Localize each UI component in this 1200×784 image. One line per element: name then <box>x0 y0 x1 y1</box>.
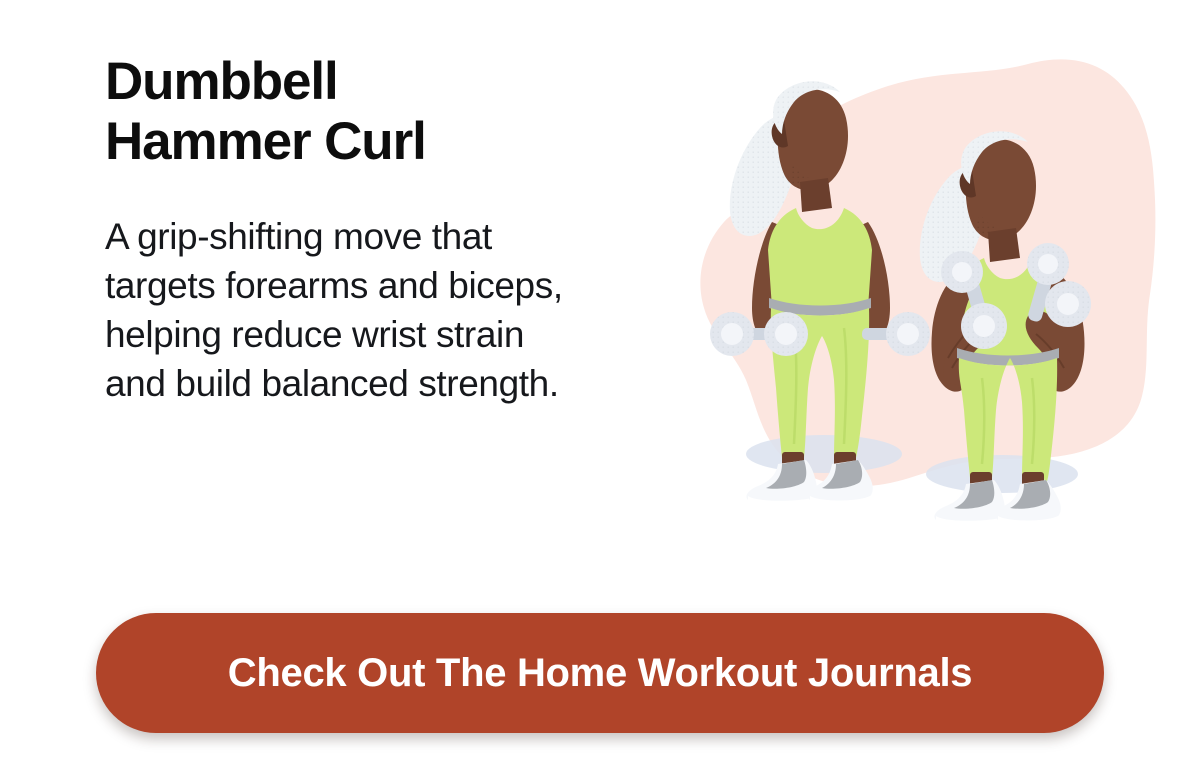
exercise-promo-card: Dumbbell Hammer Curl A grip-shifting mov… <box>0 0 1200 784</box>
right-figure-shoe-left <box>934 480 1004 525</box>
left-figure-shoe-left <box>746 460 816 505</box>
page-title: Dumbbell Hammer Curl <box>105 52 675 172</box>
text-column: Dumbbell Hammer Curl A grip-shifting mov… <box>105 52 675 409</box>
cta-button-label: Check Out The Home Workout Journals <box>228 651 972 696</box>
cta-container: Check Out The Home Workout Journals <box>96 613 1104 733</box>
check-out-home-workout-journals-button[interactable]: Check Out The Home Workout Journals <box>96 613 1104 733</box>
exercise-illustration <box>672 36 1172 528</box>
exercise-description: A grip-shifting move that targets forear… <box>105 212 675 409</box>
